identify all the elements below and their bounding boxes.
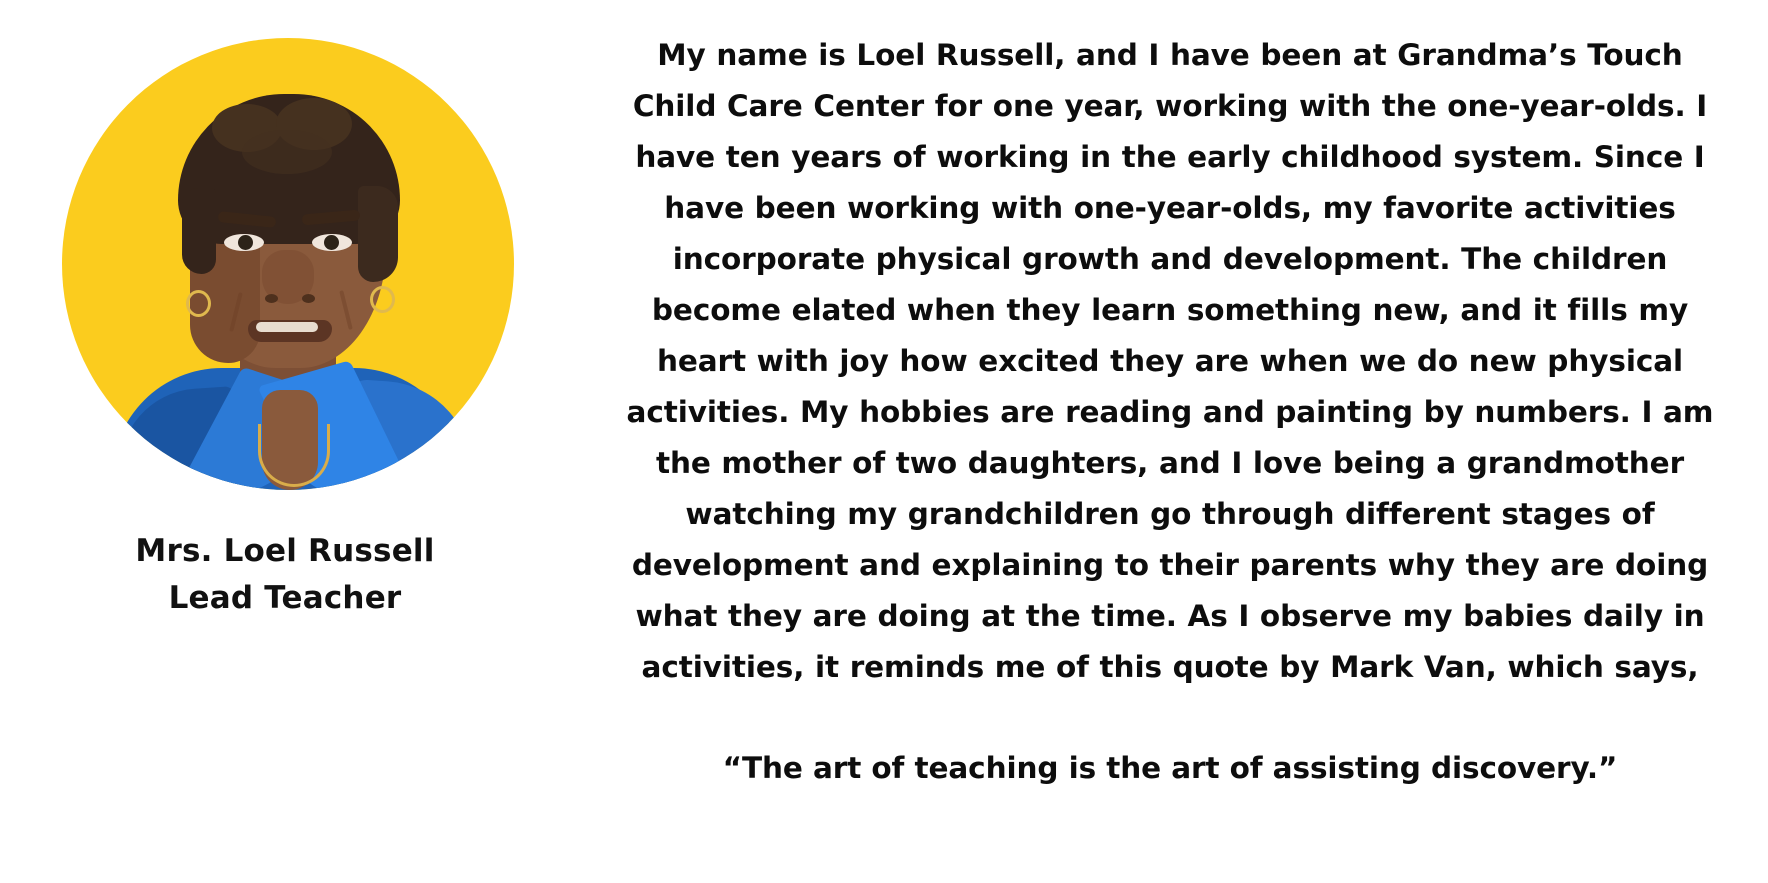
bio-paragraph: My name is Loel Russell, and I have been… — [600, 30, 1740, 693]
nostril-right — [302, 294, 315, 303]
earring-right — [370, 286, 395, 313]
staff-title: Lead Teacher — [0, 575, 570, 622]
yellow-circle-background — [62, 38, 514, 490]
bio-column: My name is Loel Russell, and I have been… — [600, 30, 1740, 794]
earring-left — [186, 290, 211, 317]
staff-profile-card: Mrs. Loel Russell Lead Teacher My name i… — [0, 0, 1768, 883]
sideburn-left — [182, 188, 216, 274]
portrait-column: Mrs. Loel Russell Lead Teacher — [0, 0, 570, 883]
pupil-left — [238, 235, 253, 250]
teeth-shape — [256, 322, 318, 332]
hair-texture — [242, 130, 332, 174]
teacher-portrait-illustration — [62, 38, 514, 490]
staff-name-block: Mrs. Loel Russell Lead Teacher — [0, 528, 570, 622]
bio-quote: “The art of teaching is the art of assis… — [600, 743, 1740, 794]
portrait-photo — [62, 38, 514, 490]
staff-name: Mrs. Loel Russell — [0, 528, 570, 575]
pupil-right — [324, 235, 339, 250]
nostril-left — [265, 294, 278, 303]
sideburn-right — [358, 186, 398, 282]
